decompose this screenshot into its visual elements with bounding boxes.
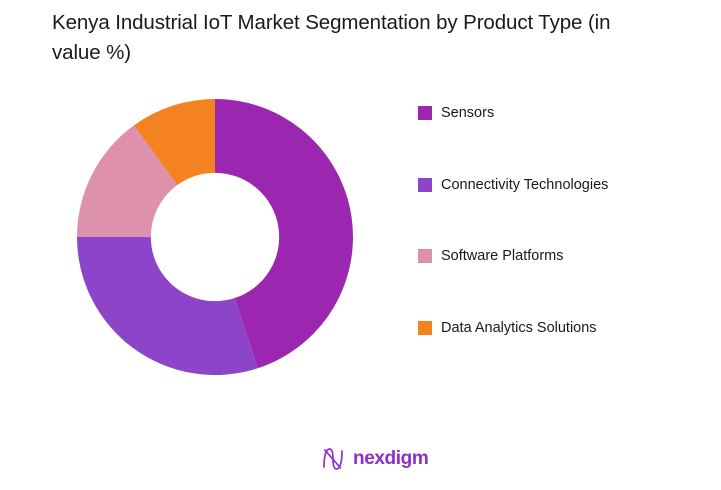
- legend-swatch-icon: [418, 106, 432, 120]
- legend-item-sensors[interactable]: Sensors: [418, 105, 698, 177]
- brand-logo: nexdigm: [320, 446, 428, 472]
- legend-swatch-icon: [418, 249, 432, 263]
- donut-chart-svg: [77, 99, 353, 375]
- legend-item-software-platforms[interactable]: Software Platforms: [418, 248, 698, 320]
- legend-item-label: Software Platforms: [441, 248, 564, 264]
- donut-chart: [77, 99, 353, 375]
- donut-slice-group: [77, 99, 353, 375]
- legend-item-connectivity-technologies[interactable]: Connectivity Technologies: [418, 177, 698, 249]
- nexdigm-wave-icon: [320, 446, 346, 472]
- legend-swatch-icon: [418, 178, 432, 192]
- legend-item-label: Data Analytics Solutions: [441, 320, 597, 336]
- legend-item-label: Sensors: [441, 105, 494, 121]
- chart-legend: Sensors Connectivity Technologies Softwa…: [418, 105, 698, 336]
- legend-item-label: Connectivity Technologies: [441, 177, 608, 193]
- legend-swatch-icon: [418, 321, 432, 335]
- page-title: Kenya Industrial IoT Market Segmentation…: [52, 8, 652, 68]
- brand-name: nexdigm: [353, 446, 428, 472]
- donut-slice[interactable]: [77, 237, 258, 375]
- legend-item-data-analytics-solutions[interactable]: Data Analytics Solutions: [418, 320, 698, 336]
